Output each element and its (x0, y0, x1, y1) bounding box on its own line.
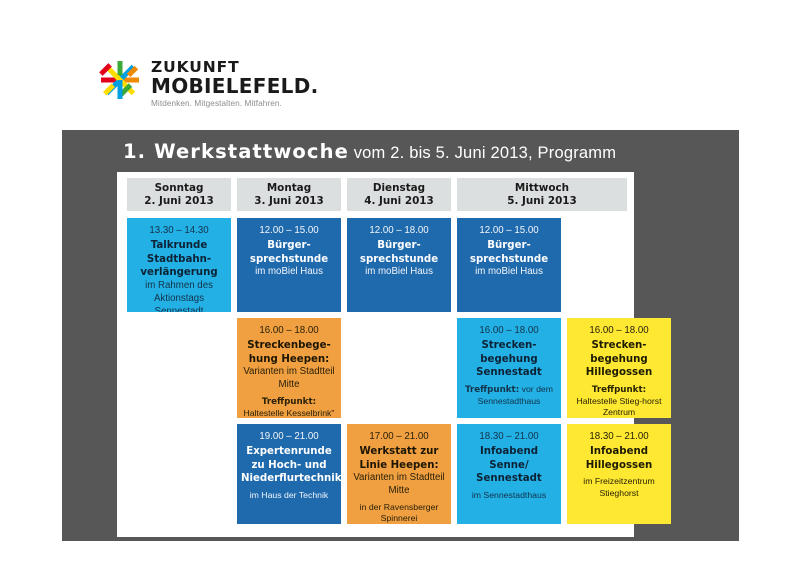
event-location: in der Ravensberger Spinnerei (351, 502, 447, 524)
event-title: Streckenbege-hung Heepen: (241, 339, 337, 366)
program-banner: 1. Werkstattwoche vom 2. bis 5. Juni 201… (62, 130, 739, 541)
day-header-sonntag: Sonntag 2. Juni 2013 (127, 178, 231, 211)
day-header-date: 5. Juni 2013 (507, 195, 577, 207)
event-time: 17.00 – 21.00 (351, 430, 447, 443)
day-header-dienstag: Dienstag 4. Juni 2013 (347, 178, 451, 211)
event-cell-di-werkstatt-linie-heepen[interactable]: 17.00 – 21.00 Werkstatt zur Linie Heepen… (347, 424, 451, 524)
event-cell-mi-buergersprechstunde[interactable]: 12.00 – 15.00 Bürger-sprechstunde im moB… (457, 218, 561, 312)
event-time: 19.00 – 21.00 (241, 430, 337, 443)
day-header-name: Mittwoch (515, 182, 569, 194)
event-title: Strecken-begehung Hillegossen (571, 339, 667, 380)
day-header-name: Sonntag (155, 182, 204, 194)
page-title-light: vom 2. bis 5. Juni 2013, Programm (349, 144, 616, 162)
event-location-alt: im Haus der Technik (241, 490, 337, 501)
event-meeting-point: Treffpunkt: Haltestelle Kesselbrink" (241, 396, 337, 418)
day-header-name: Dienstag (373, 182, 425, 194)
event-title: Expertenrunde zu Hoch- und Niederflurtec… (241, 445, 337, 486)
event-time: 18.30 – 21.00 (461, 430, 557, 443)
event-meeting-point: Treffpunkt: Haltestelle Stieg-horst Zent… (571, 384, 667, 418)
event-meeting-point-label: Treffpunkt: (465, 385, 519, 395)
event-cell-mi-streckenbegehung-hillegossen[interactable]: 16.00 – 18.00 Strecken-begehung Hillegos… (567, 318, 671, 418)
event-location: im moBiel Haus (461, 266, 557, 279)
event-location: im Rahmen des Aktionstags Sennestadt (131, 280, 227, 312)
day-header-date: 4. Juni 2013 (364, 195, 434, 207)
event-title: Werkstatt zur Linie Heepen: (351, 445, 447, 472)
event-cell-mi-infoabend-hillegossen[interactable]: 18.30 – 21.00 Infoabend Hillegossen im F… (567, 424, 671, 524)
brand-logo: ZUKUNFT MOBIELEFELD. Mitdenken. Mitgesta… (97, 57, 319, 108)
event-title: Strecken-begehung Sennestadt (461, 339, 557, 380)
day-header-date: 3. Juni 2013 (254, 195, 324, 207)
event-cell-mi-infoabend-senne[interactable]: 18.30 – 21.00 Infoabend Senne/ Sennestad… (457, 424, 561, 524)
event-subtitle: Varianten im Stadtteil Mitte (351, 472, 447, 498)
event-cell-di-buergersprechstunde[interactable]: 12.00 – 18.00 Bürger-sprechstunde im moB… (347, 218, 451, 312)
event-cell-so-talkrunde[interactable]: 13.30 – 14.30 Talkrunde Stadtbahn-verlän… (127, 218, 231, 312)
page-title-strong: 1. Werkstattwoche (123, 140, 349, 163)
event-location: im moBiel Haus (241, 266, 337, 279)
event-meeting-point: Treffpunkt: vor dem Sennestadthaus (461, 384, 557, 408)
event-title: Bürger-sprechstunde (351, 239, 447, 266)
event-time: 13.30 – 14.30 (131, 224, 227, 237)
event-location: im Freizeitzentrum Stieghorst (571, 476, 667, 499)
event-meeting-point-value: Haltestelle Kesselbrink" (244, 408, 335, 418)
event-cell-mo-buergersprechstunde[interactable]: 12.00 – 15.00 Bürger-sprechstunde im moB… (237, 218, 341, 312)
event-cell-mo-streckenbegehung-heepen[interactable]: 16.00 – 18.00 Streckenbege-hung Heepen: … (237, 318, 341, 418)
event-cell-mi-streckenbegehung-sennestadt[interactable]: 16.00 – 18.00 Strecken-begehung Sennesta… (457, 318, 561, 418)
event-title: Infoabend Senne/ Sennestadt (461, 445, 557, 486)
day-header-name: Montag (267, 182, 311, 194)
brand-line-2: MOBIELEFELD. (151, 76, 319, 96)
brand-wordmark: ZUKUNFT MOBIELEFELD. Mitdenken. Mitgesta… (151, 57, 319, 108)
brand-tagline: Mitdenken. Mitgestalten. Mitfahren. (151, 99, 319, 108)
event-cell-mo-expertenrunde[interactable]: 19.00 – 21.00 Expertenrunde zu Hoch- und… (237, 424, 341, 524)
event-title: Bürger-sprechstunde (461, 239, 557, 266)
event-meeting-point-label: Treffpunkt: (262, 397, 316, 407)
page-title: 1. Werkstattwoche vom 2. bis 5. Juni 201… (123, 140, 616, 163)
day-header-date: 2. Juni 2013 (144, 195, 214, 207)
event-location: im Sennestadthaus (461, 490, 557, 501)
event-time: 16.00 – 18.00 (571, 324, 667, 337)
event-time: 18.30 – 21.00 (571, 430, 667, 443)
event-time: 12.00 – 15.00 (461, 224, 557, 237)
event-title: Bürger-sprechstunde (241, 239, 337, 266)
event-time: 12.00 – 18.00 (351, 224, 447, 237)
event-time: 12.00 – 15.00 (241, 224, 337, 237)
event-subtitle: Varianten im Stadtteil Mitte (241, 366, 337, 392)
event-meeting-point-label: Treffpunkt: (592, 385, 646, 395)
schedule-panel: Sonntag 2. Juni 2013 Montag 3. Juni 2013… (117, 172, 634, 537)
day-header-row: Sonntag 2. Juni 2013 Montag 3. Juni 2013… (127, 178, 627, 211)
schedule-grid: Sonntag 2. Juni 2013 Montag 3. Juni 2013… (127, 178, 627, 533)
event-time: 16.00 – 18.00 (461, 324, 557, 337)
event-time: 16.00 – 18.00 (241, 324, 337, 337)
event-meeting-point-value: Haltestelle Stieg-horst Zentrum (577, 396, 662, 417)
zukunft-mobielefeld-star-logo (97, 57, 143, 103)
event-title: Talkrunde Stadtbahn-verlängerung (131, 239, 227, 280)
event-title: Infoabend Hillegossen (571, 445, 667, 472)
day-header-montag: Montag 3. Juni 2013 (237, 178, 341, 211)
event-location: im moBiel Haus (351, 266, 447, 279)
day-header-mittwoch: Mittwoch 5. Juni 2013 (457, 178, 627, 211)
